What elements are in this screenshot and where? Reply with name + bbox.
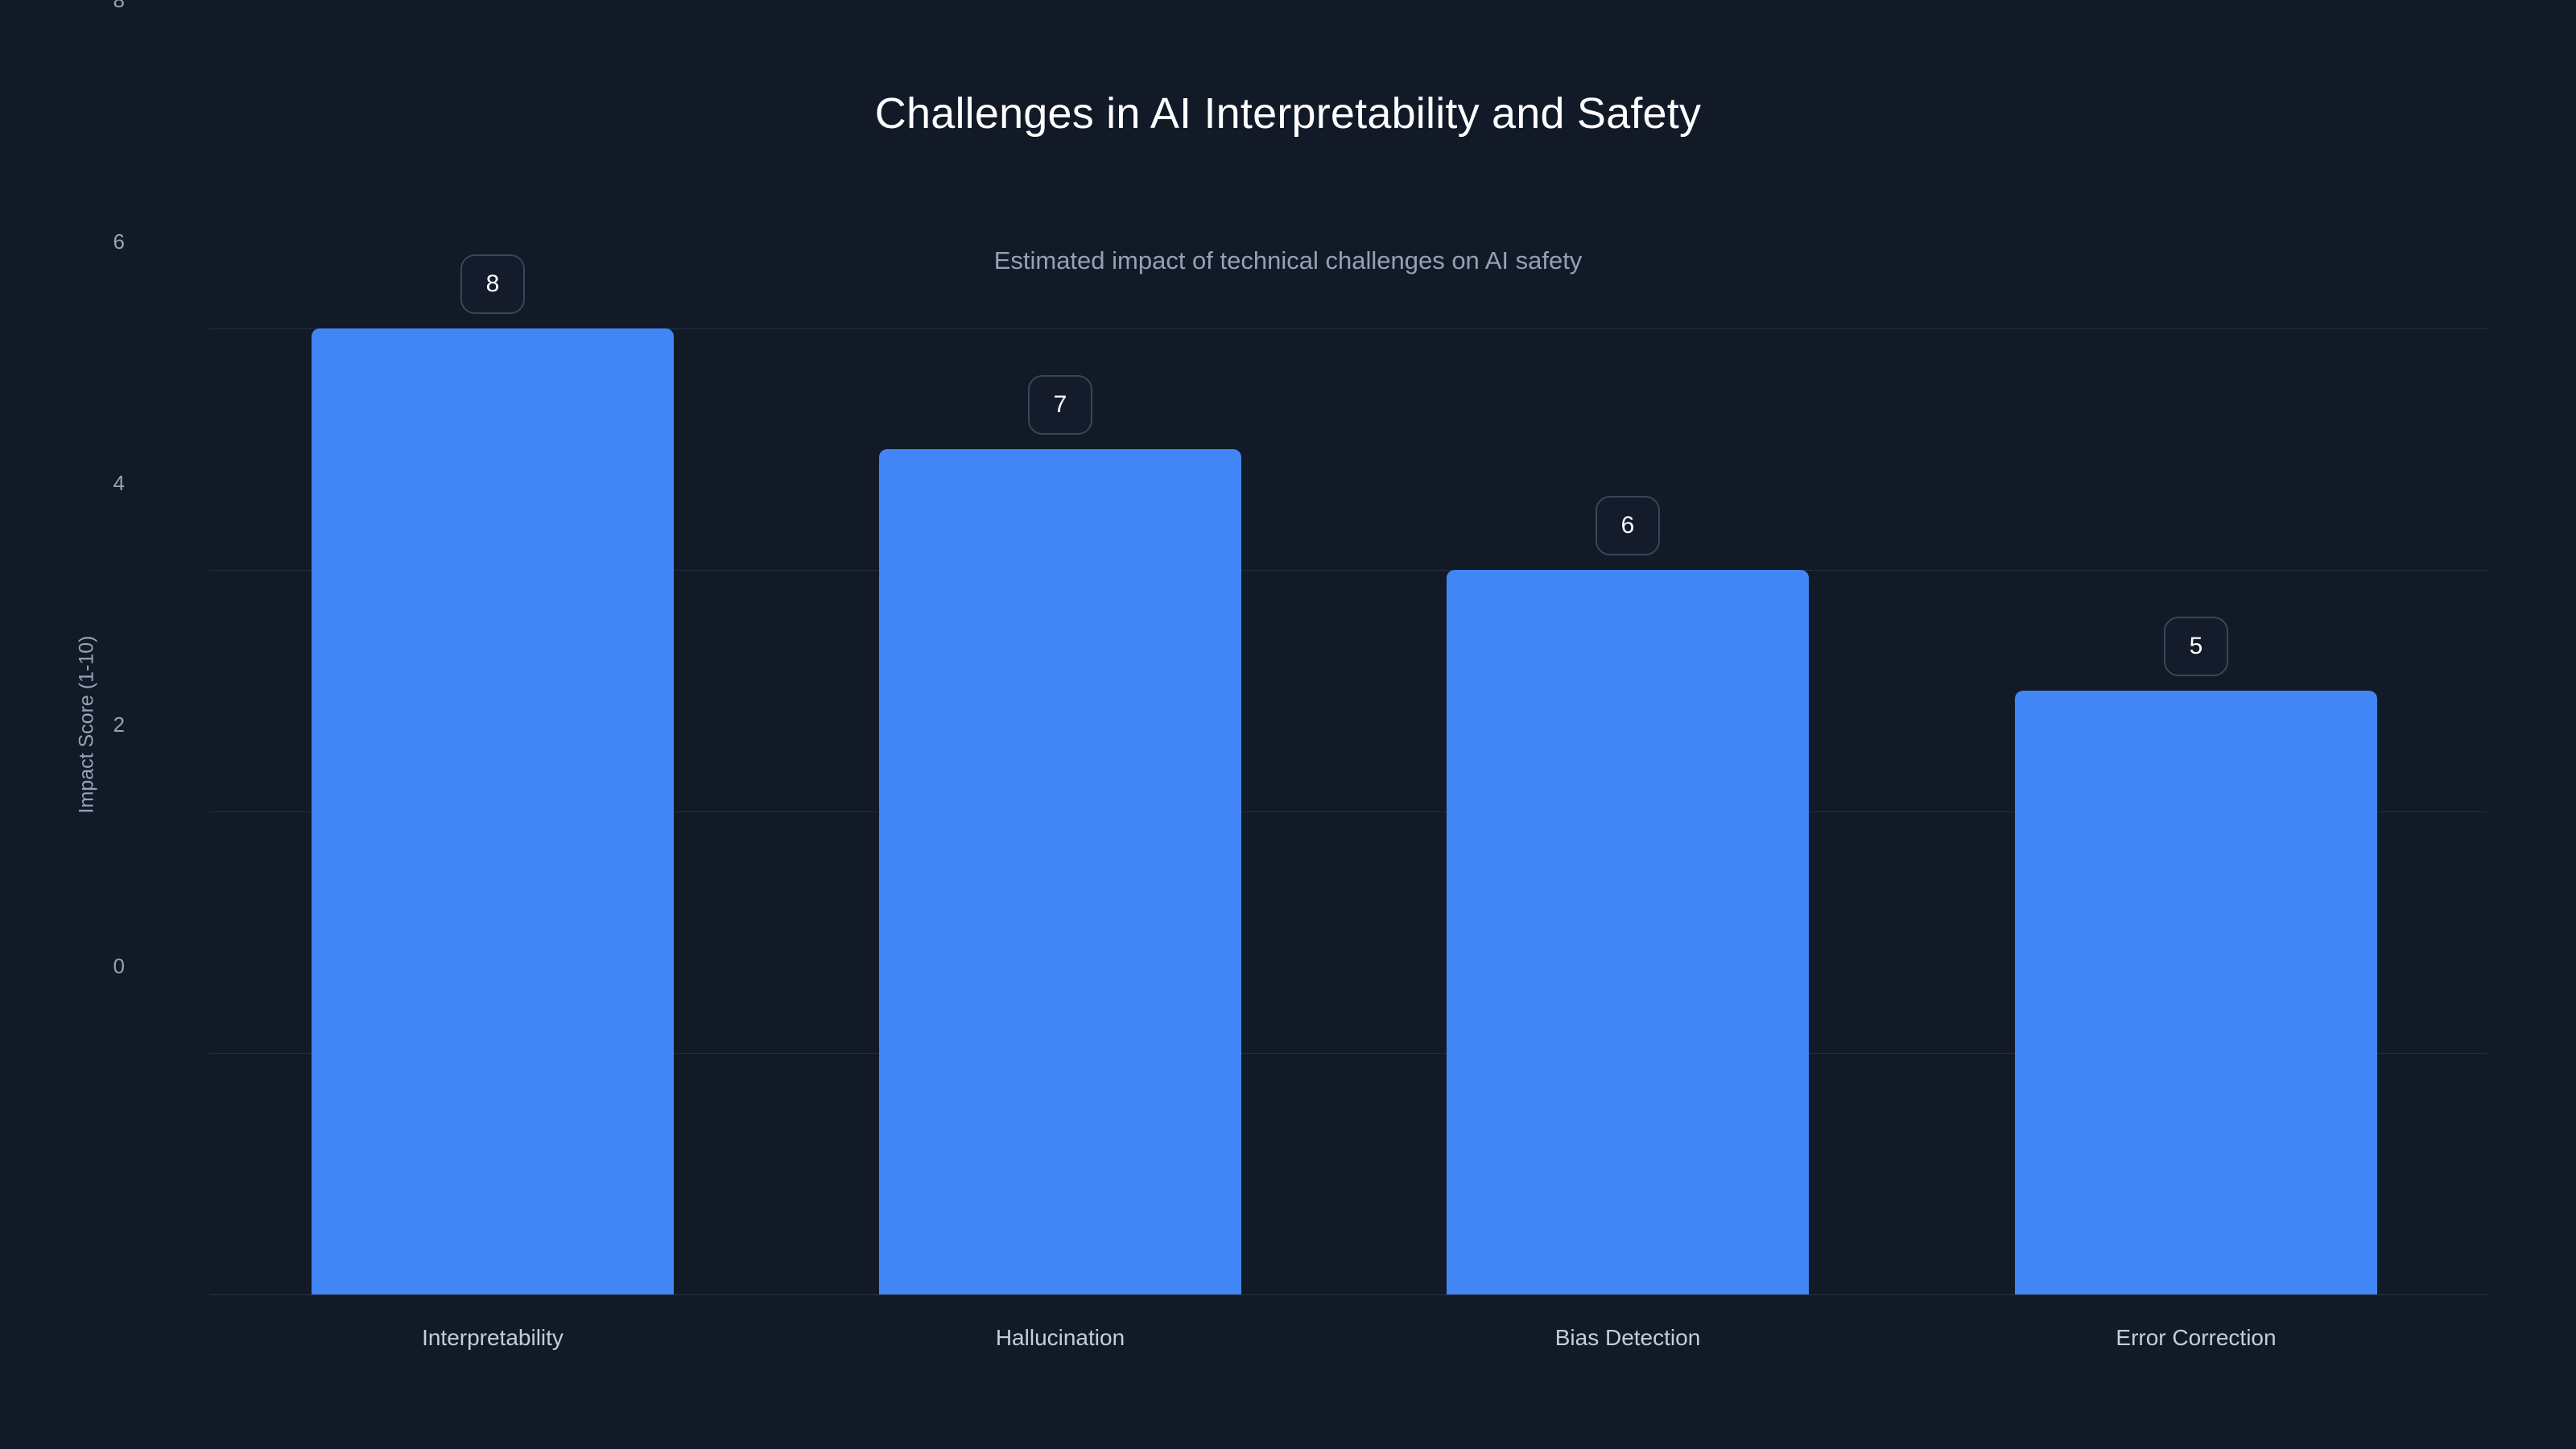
chart-subtitle: Estimated impact of technical challenges…	[0, 246, 2576, 275]
value-badge-hallucination: 7	[1028, 375, 1092, 435]
x-tick-label-interpretability: Interpretability	[422, 1327, 563, 1349]
bar-error-correction[interactable]	[2015, 691, 2377, 1294]
bar-interpretability[interactable]	[312, 328, 674, 1294]
y-tick-label: 6	[28, 231, 125, 252]
bar-bias-detection[interactable]	[1447, 570, 1809, 1294]
value-badge-error-correction: 5	[2164, 617, 2228, 676]
y-tick-label: 0	[28, 956, 125, 976]
value-badge-bias-detection: 6	[1596, 496, 1660, 555]
x-tick-label-error-correction: Error Correction	[2116, 1327, 2276, 1349]
chart-title: Challenges in AI Interpretability and Sa…	[0, 89, 2576, 138]
plot-area: 8 7 6 5	[209, 328, 2487, 1294]
y-tick-label: 8	[28, 0, 125, 10]
bar-chart: Challenges in AI Interpretability and Sa…	[0, 0, 2576, 1449]
x-axis-baseline	[209, 1294, 2487, 1295]
bar-hallucination[interactable]	[879, 449, 1241, 1294]
x-tick-label-hallucination: Hallucination	[996, 1327, 1125, 1349]
value-badge-interpretability: 8	[460, 254, 525, 314]
y-tick-label: 4	[28, 473, 125, 493]
x-tick-label-bias-detection: Bias Detection	[1555, 1327, 1701, 1349]
y-tick-label: 2	[28, 714, 125, 735]
